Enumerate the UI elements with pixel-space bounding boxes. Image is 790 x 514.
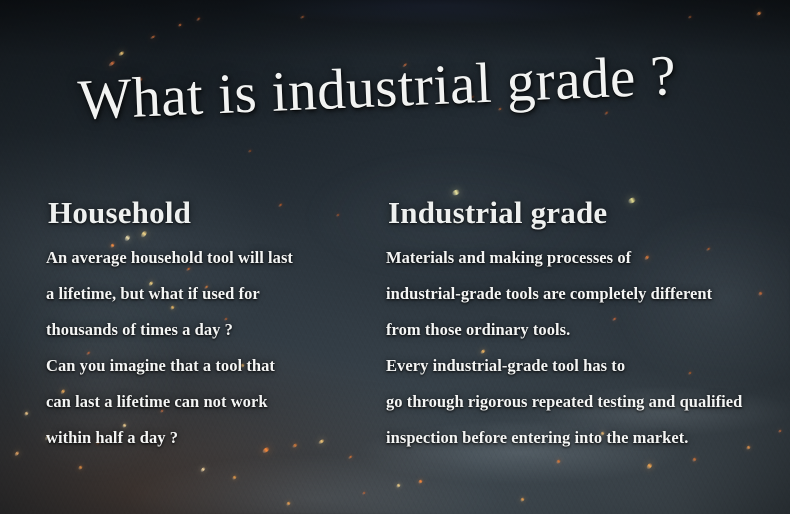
spark-particle	[756, 11, 763, 17]
spark-particle	[78, 465, 84, 471]
spark-particle	[232, 475, 238, 481]
spark-particle	[178, 23, 182, 27]
spark-particle	[646, 462, 654, 470]
spark-particle	[196, 17, 201, 22]
body-line: industrial-grade tools are completely di…	[386, 276, 778, 312]
spark-particle	[692, 457, 698, 463]
spark-particle	[604, 111, 609, 116]
column-body-household: An average household tool will lasta lif…	[46, 240, 376, 456]
spark-particle	[418, 479, 424, 485]
body-line: a lifetime, but what if used for	[46, 276, 376, 312]
spark-particle	[108, 60, 116, 67]
body-line: Every industrial-grade tool has to	[386, 348, 778, 384]
body-line: from those ordinary tools.	[386, 312, 778, 348]
body-line: within half a day ?	[46, 420, 376, 456]
slide-title: What is industrial grade ?	[77, 45, 719, 129]
spark-particle	[778, 429, 782, 433]
column-household: Household An average household tool will…	[46, 196, 376, 456]
body-line: can last a lifetime can not work	[46, 384, 376, 420]
slide-canvas: What is industrial grade ? Household An …	[0, 0, 790, 514]
body-line: thousands of times a day ?	[46, 312, 376, 348]
spark-particle	[118, 50, 125, 57]
spark-particle	[396, 483, 402, 489]
spark-particle	[150, 35, 156, 40]
body-line: inspection before entering into the mark…	[386, 420, 778, 456]
column-industrial-grade: Industrial grade Materials and making pr…	[386, 196, 778, 456]
spark-particle	[200, 466, 206, 472]
column-heading-household: Household	[48, 196, 376, 231]
spark-particle	[556, 459, 562, 465]
body-line: An average household tool will last	[46, 240, 376, 276]
spark-particle	[248, 149, 252, 153]
spark-particle	[688, 15, 692, 19]
body-line: Materials and making processes of	[386, 240, 778, 276]
spark-particle	[286, 501, 292, 507]
column-body-industrial-grade: Materials and making processes ofindustr…	[386, 240, 778, 456]
spark-particle	[14, 450, 20, 456]
spark-particle	[362, 491, 366, 495]
body-line: go through rigorous repeated testing and…	[386, 384, 778, 420]
body-line: Can you imagine that a tool that	[46, 348, 376, 384]
spark-particle	[520, 497, 526, 503]
column-heading-industrial-grade: Industrial grade	[388, 196, 778, 231]
spark-particle	[24, 411, 30, 417]
spark-particle	[300, 15, 305, 19]
